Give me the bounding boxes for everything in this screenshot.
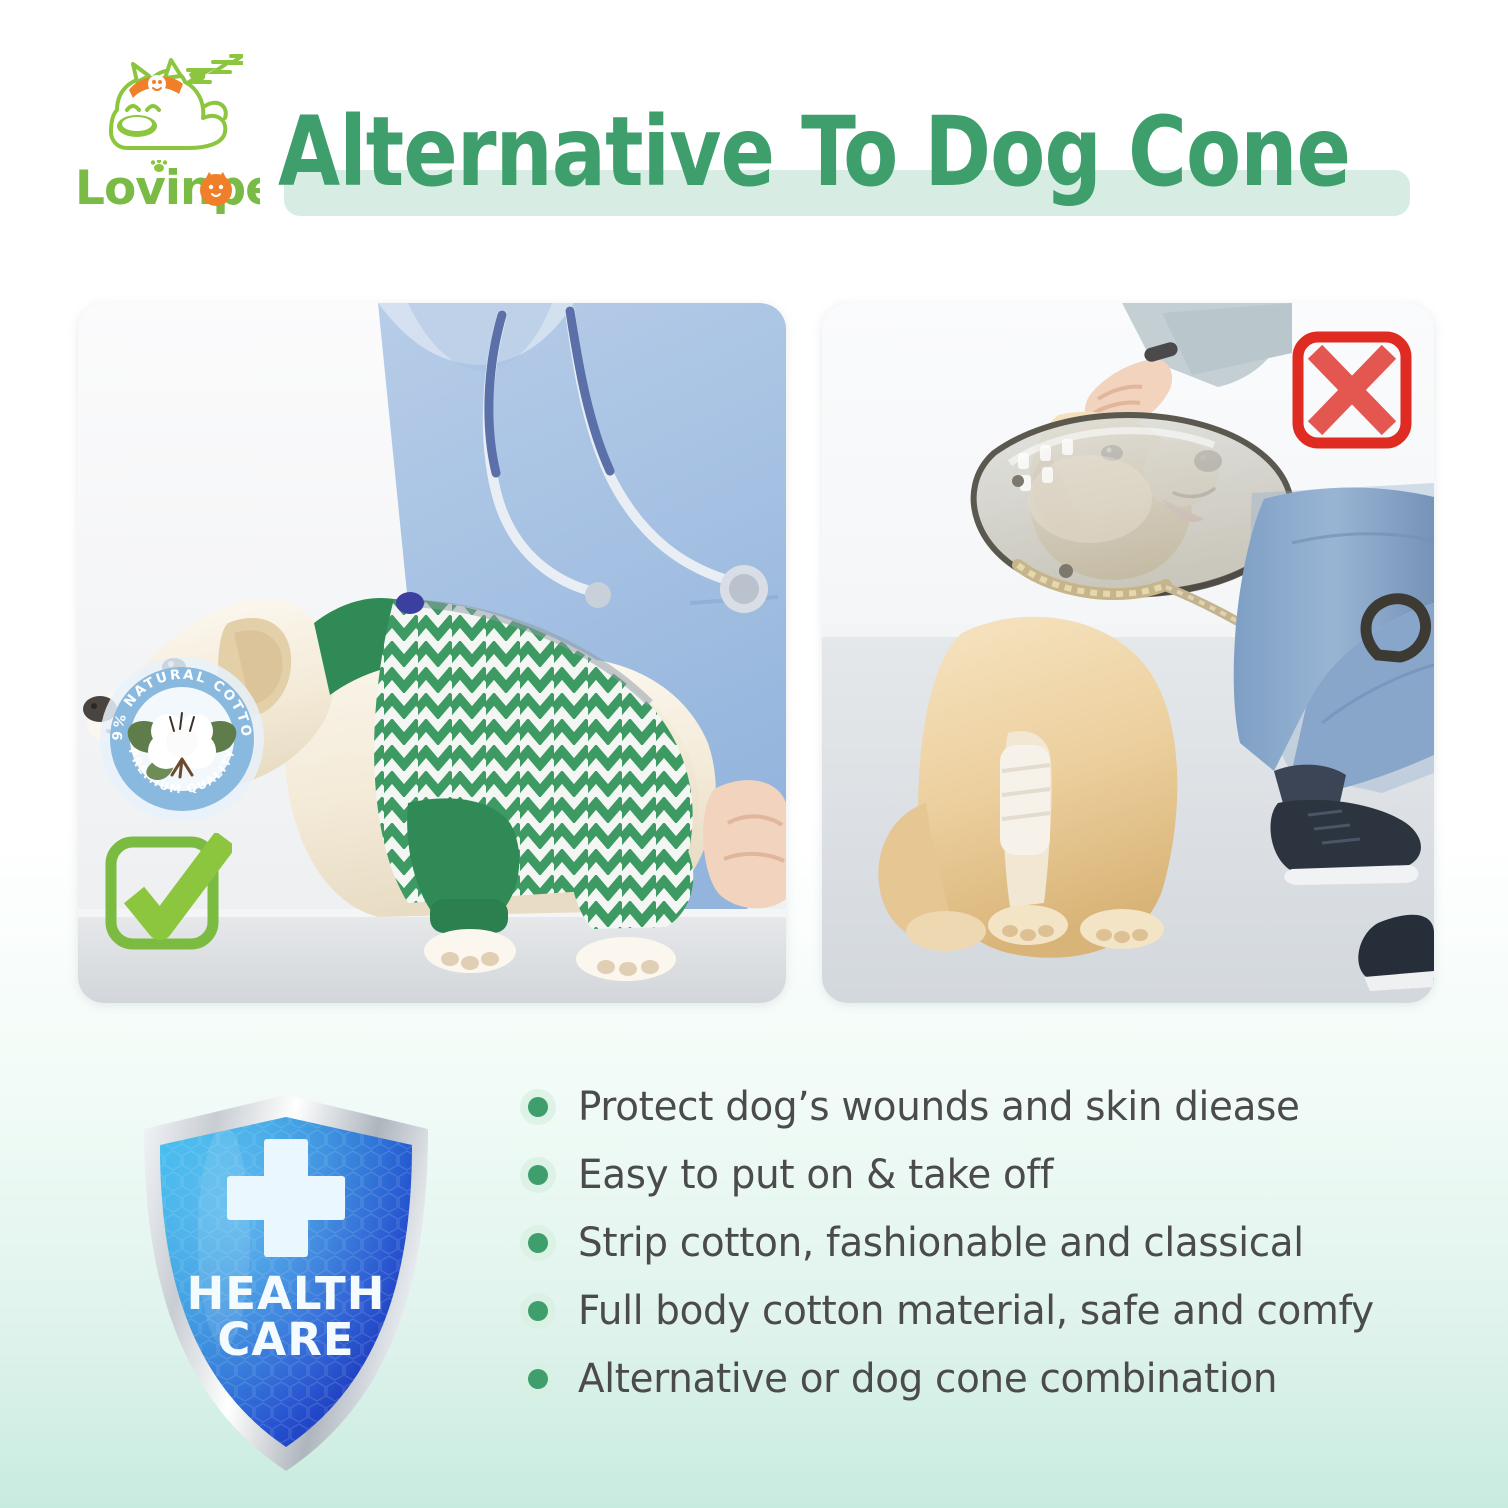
bullet-icon (520, 1089, 556, 1125)
brand-name: Lovinpet (75, 161, 260, 216)
benefit-label: Full body cotton material, safe and comf… (578, 1288, 1374, 1334)
benefit-label: Protect dog’s wounds and skin diease (578, 1084, 1300, 1130)
header: Lovinpet Alternative To Dog Cone (0, 0, 1508, 250)
benefit-item: Protect dog’s wounds and skin diease (520, 1073, 1470, 1141)
benefit-label: Alternative or dog cone combination (578, 1356, 1277, 1402)
benefit-item: Easy to put on & take off (520, 1141, 1470, 1209)
page-title: Alternative To Dog Cone (278, 96, 1366, 208)
benefit-item: Full body cotton material, safe and comf… (520, 1277, 1470, 1345)
shield-line-2: CARE (217, 1313, 354, 1366)
brand-wordmark: Lovinpet (75, 160, 260, 216)
bullet-icon (520, 1293, 556, 1329)
benefits-list: Protect dog’s wounds and skin diease Eas… (520, 1073, 1470, 1413)
green-check-icon (104, 833, 232, 957)
cotton-badge: 99% NATURAL COTTON PREMIUM QUALITY (98, 655, 266, 823)
photo-recommended: 99% NATURAL COTTON PREMIUM QUALITY (78, 303, 786, 1003)
benefits-section: HEALTH CARE Protect dog’s wounds and ski… (0, 1055, 1508, 1508)
benefit-label: Strip cotton, fashionable and classical (578, 1220, 1304, 1266)
benefit-item: Strip cotton, fashionable and classical (520, 1209, 1470, 1277)
brand-logo: Lovinpet (75, 48, 260, 218)
photo-not-recommended (822, 303, 1434, 1003)
red-x-icon (1292, 331, 1412, 449)
bullet-icon (520, 1157, 556, 1193)
sleeping-dog-logo-icon (93, 48, 243, 166)
bullet-icon (520, 1225, 556, 1261)
benefit-item: Alternative or dog cone combination (520, 1345, 1470, 1413)
page-title-wrapper: Alternative To Dog Cone (278, 96, 1448, 222)
product-infographic: Lovinpet Alternative To Dog Cone (0, 0, 1508, 1508)
health-care-shield-badge: HEALTH CARE (128, 1087, 444, 1477)
comparison-photos: 99% NATURAL COTTON PREMIUM QUALITY (0, 303, 1508, 1003)
bullet-icon (520, 1361, 556, 1397)
benefit-label: Easy to put on & take off (578, 1152, 1053, 1198)
